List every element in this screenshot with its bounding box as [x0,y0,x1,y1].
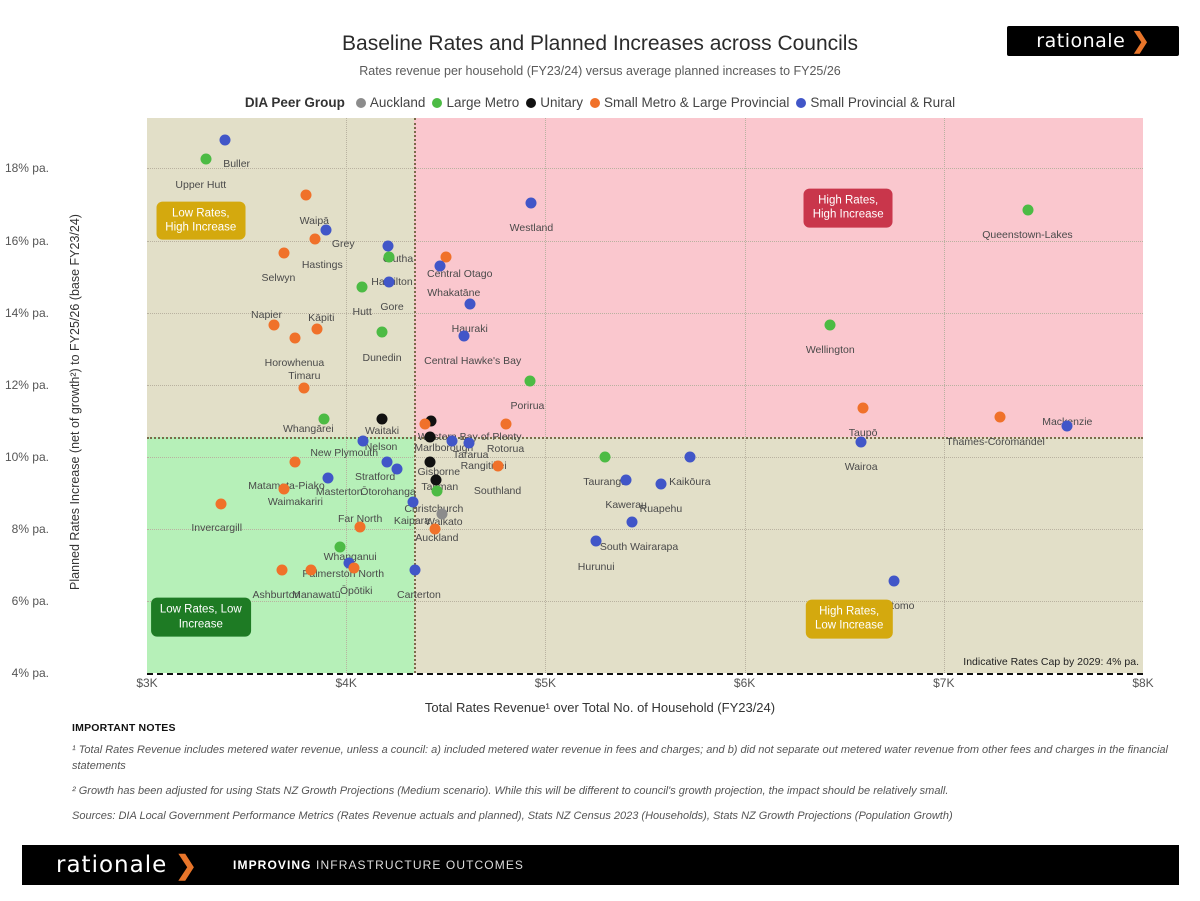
data-point[interactable] [424,457,435,468]
data-point[interactable] [889,576,900,587]
data-point[interactable] [382,457,393,468]
data-point[interactable] [994,412,1005,423]
legend-swatch-icon [796,98,806,108]
data-point[interactable] [621,475,632,486]
data-point[interactable] [377,327,388,338]
data-point[interactable] [335,541,346,552]
gridline-vertical [944,118,945,673]
y-axis-tick: 18% pa. [0,161,49,175]
x-axis-label: Total Rates Revenue¹ over Total No. of H… [0,700,1200,715]
note-item: ¹ Total Rates Revenue includes metered w… [72,743,1172,775]
point-label: Ashburton [253,589,301,601]
data-point[interactable] [383,240,394,251]
legend-swatch-icon [432,98,442,108]
legend-item-label: Unitary [540,95,583,110]
point-label: Waimakariri [268,496,323,508]
data-point[interactable] [627,516,638,527]
data-point[interactable] [301,190,312,201]
rates-cap-reference-line [147,673,1143,675]
chart-title: Baseline Rates and Planned Increases acr… [0,32,1200,56]
point-label: Whakatāne [427,287,480,299]
data-point[interactable] [419,418,430,429]
y-axis-tick: 6% pa. [0,594,49,608]
data-point[interactable] [200,154,211,165]
point-label: Timaru [288,370,320,382]
gridline-vertical [545,118,546,673]
legend-item-label: Auckland [370,95,426,110]
data-point[interactable] [858,403,869,414]
data-point[interactable] [492,460,503,471]
point-label: Wellington [806,344,855,356]
quadrant-label-line2: High Increase [813,208,884,222]
chevron-right-icon-footer: ❯ [175,852,197,878]
quadrant-label-line2: Low Increase [815,619,883,633]
data-point[interactable] [279,248,290,259]
legend-item-label: Small Metro & Large Provincial [604,95,789,110]
point-label: South Wairarapa [600,541,678,553]
data-point[interactable] [357,282,368,293]
point-label: Rotorua [487,443,524,455]
point-label: Hutt [352,306,371,318]
point-label: Kāpiti [308,312,334,324]
rationale-wordmark-footer: rationale [56,852,167,878]
scatter-plot-area: BullerUpper HuttWaipāWestlandQueenstown-… [147,118,1143,673]
legend-item-auckland[interactable]: Auckland [356,95,426,110]
data-point[interactable] [219,134,230,145]
x-axis-tick: $6K [734,676,755,690]
data-point[interactable] [458,331,469,342]
point-label: Hastings [302,259,343,271]
quadrant-label-low-high: Low Rates,High Increase [156,201,245,240]
chart-subtitle: Rates revenue per household (FY23/24) ve… [0,64,1200,78]
point-label: Carterton [397,589,441,601]
data-point[interactable] [306,565,317,576]
data-point[interactable] [434,260,445,271]
quadrant-label-line2: High Increase [165,221,236,235]
point-label: Ōtorohanga [360,486,415,498]
data-point[interactable] [436,509,447,520]
rationale-logo-footer: rationale ❯ [56,852,197,878]
footer-tagline: IMPROVING INFRASTRUCTURE OUTCOMES [233,858,524,872]
gridline-horizontal [147,385,1143,386]
data-point[interactable] [279,484,290,495]
quadrant-label-low-low: Low Rates, LowIncrease [151,598,251,637]
legend-swatch-icon [356,98,366,108]
data-point[interactable] [384,251,395,262]
point-label: Hurunui [578,561,615,573]
point-label: Grey [332,238,355,250]
point-label: Southland [474,485,521,497]
data-point[interactable] [856,437,867,448]
footer-tagline-rest: INFRASTRUCTURE OUTCOMES [312,858,524,872]
x-axis-tick: $3K [136,676,157,690]
y-axis-tick: 16% pa. [0,234,49,248]
rates-cap-label: Indicative Rates Cap by 2029: 4% pa. [963,656,1139,668]
data-point[interactable] [409,565,420,576]
x-axis-tick: $4K [336,676,357,690]
data-point[interactable] [526,197,537,208]
legend-swatch-icon [590,98,600,108]
quadrant-label-line1: High Rates, [813,194,884,208]
data-point[interactable] [384,276,395,287]
data-point[interactable] [299,383,310,394]
note-item: Sources: DIA Local Government Performanc… [72,809,1172,825]
note-item: ² Growth has been adjusted for using Sta… [72,784,1172,800]
data-point[interactable] [1023,204,1034,215]
data-point[interactable] [319,413,330,424]
data-point[interactable] [591,536,602,547]
data-point[interactable] [431,486,442,497]
point-label: Ōpōtiki [340,585,373,597]
y-axis-tick: 8% pa. [0,522,49,536]
quadrant-label-line1: Low Rates, [165,206,236,220]
data-point[interactable] [825,320,836,331]
point-label: Westland [510,222,554,234]
y-axis-label: Planned Rates Increase (net of growth²) … [68,132,82,672]
legend-item-unitary[interactable]: Unitary [526,95,583,110]
data-point[interactable] [1062,421,1073,432]
quadrant-label-high-low: High Rates,Low Increase [806,600,892,639]
point-label: Stratford [355,471,395,483]
data-point[interactable] [684,451,695,462]
x-axis-tick: $8K [1132,676,1153,690]
legend-item-small-metro-large-provincial[interactable]: Small Metro & Large Provincial [590,95,789,110]
gridline-vertical [745,118,746,673]
point-label: Kaikōura [669,476,710,488]
quadrant-high-rates-high-increase [414,118,1143,437]
data-point[interactable] [429,523,440,534]
data-point[interactable] [446,435,457,446]
y-axis-tick: 14% pa. [0,306,49,320]
point-label: Hauraki [452,323,488,335]
point-label: Queenstown-Lakes [982,229,1072,241]
legend-swatch-icon [526,98,536,108]
y-axis-tick: 12% pa. [0,378,49,392]
quadrant-label-high-high: High Rates,High Increase [804,189,893,228]
data-point[interactable] [312,323,323,334]
footer-tagline-bold: IMPROVING [233,858,312,872]
point-label: Porirua [511,400,545,412]
quadrant-label-line2: Increase [160,617,242,631]
point-label: Invercargill [191,522,242,534]
data-point[interactable] [358,435,369,446]
y-axis-tick: 10% pa. [0,450,49,464]
point-label: Buller [223,158,250,170]
data-point[interactable] [424,431,435,442]
notes-title: IMPORTANT NOTES [72,722,1172,734]
point-label: Horowhenua [265,357,325,369]
x-axis-tick: $7K [933,676,954,690]
point-label: Selwyn [262,272,296,284]
data-point[interactable] [525,376,536,387]
point-label: Wairoa [845,461,878,473]
data-point[interactable] [277,565,288,576]
data-point[interactable] [215,498,226,509]
point-label: Waitaki [365,425,399,437]
footer-bar: rationale ❯ IMPROVING INFRASTRUCTURE OUT… [22,845,1179,885]
data-point[interactable] [349,563,360,574]
point-label: Thames-Coromandel [946,436,1045,448]
important-notes: IMPORTANT NOTES ¹ Total Rates Revenue in… [72,722,1172,825]
data-point[interactable] [500,419,511,430]
data-point[interactable] [290,332,301,343]
data-point[interactable] [269,320,280,331]
legend-item-small-provincial-rural[interactable]: Small Provincial & Rural [796,95,955,110]
point-label: Upper Hutt [175,179,226,191]
point-label: New Plymouth [310,447,378,459]
gridline-horizontal [147,529,1143,530]
data-point[interactable] [310,233,321,244]
point-label: Whangārei [283,423,334,435]
quadrant-label-line1: High Rates, [815,605,883,619]
legend-item-large-metro[interactable]: Large Metro [432,95,519,110]
data-point[interactable] [655,478,666,489]
data-point[interactable] [600,451,611,462]
data-point[interactable] [463,438,474,449]
legend-item-label: Small Provincial & Rural [810,95,955,110]
point-label: Central Hawke's Bay [424,355,521,367]
x-axis-tick: $5K [535,676,556,690]
data-point[interactable] [464,298,475,309]
point-label: Gore [380,301,403,313]
data-point[interactable] [323,473,334,484]
y-axis-tick: 4% pa. [0,666,49,680]
data-point[interactable] [290,457,301,468]
data-point[interactable] [355,522,366,533]
chart-legend: DIA Peer Group AucklandLarge MetroUnitar… [0,95,1200,110]
point-label: Ruapehu [640,503,683,515]
gridline-horizontal [147,168,1143,169]
gridline-horizontal [147,313,1143,314]
quadrant-label-line1: Low Rates, Low [160,603,242,617]
legend-item-label: Large Metro [446,95,519,110]
data-point[interactable] [391,464,402,475]
data-point[interactable] [430,475,441,486]
data-point[interactable] [377,413,388,424]
legend-title: DIA Peer Group [245,95,345,110]
point-label: Dunedin [362,352,401,364]
data-point[interactable] [407,496,418,507]
data-point[interactable] [321,224,332,235]
point-label: Napier [251,309,282,321]
